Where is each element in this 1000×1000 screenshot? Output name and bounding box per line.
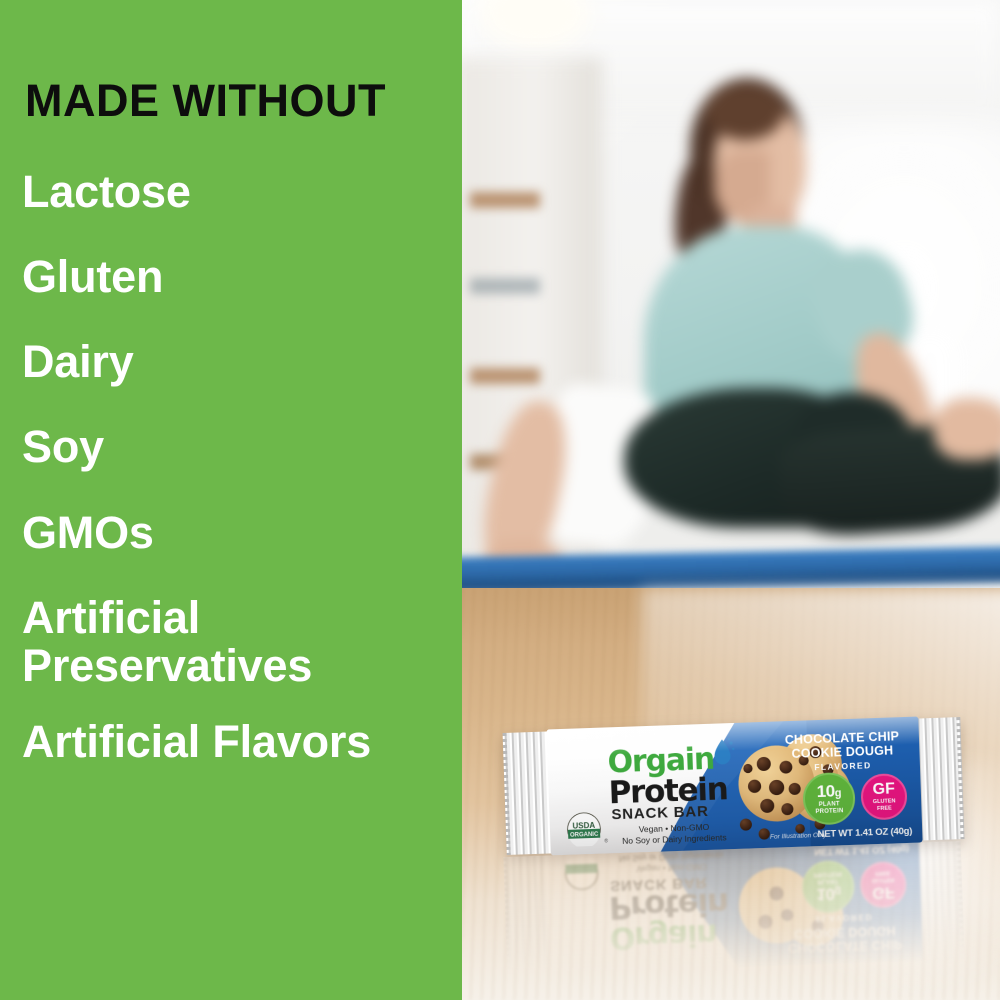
product-subtitle: SNACK BAR <box>611 803 709 823</box>
protein-value: 10 <box>816 781 835 801</box>
list-item: Artificial Preservatives <box>22 594 462 690</box>
protein-caption-line2: PROTEIN <box>815 808 843 816</box>
list-item: Gluten <box>22 253 462 301</box>
usda-organic-seal-icon: USDA ORGANIC <box>563 812 604 847</box>
package-face: Orgain® Protein SNACK BAR Vegan • Non-GM… <box>546 717 922 856</box>
package-graphic: Orgain® Protein SNACK BAR Vegan • Non-GM… <box>502 715 964 857</box>
protein-unit: g <box>834 787 841 799</box>
gluten-free-abbr: GF <box>872 782 895 799</box>
protein-amount: 10g <box>816 782 841 800</box>
list-item: Soy <box>22 423 462 471</box>
usda-registered-mark: ® <box>604 838 608 844</box>
list-item-line2: Preservatives <box>22 642 462 690</box>
product-claims: Vegan • Non-GMO No Soy or Dairy Ingredie… <box>610 821 739 848</box>
page-title: MADE WITHOUT <box>25 78 386 123</box>
list-item: Dairy <box>22 338 462 386</box>
flavor-name: CHOCOLATE CHIP COOKIE DOUGH FLAVORED <box>777 729 908 774</box>
protein-caption: PLANT PROTEIN <box>815 801 844 815</box>
product-marketing-image: MADE WITHOUT Lactose Gluten Dairy Soy GM… <box>0 0 1000 1000</box>
foot <box>934 398 1000 460</box>
made-without-list: Lactose Gluten Dairy Soy GMOs Artificial… <box>22 168 462 803</box>
gluten-free-caption-line1: GLUTEN <box>873 799 896 806</box>
product-package: Orgain® Protein SNACK BAR Vegan • Non-GM… <box>502 715 965 883</box>
gluten-free-caption-line2: FREE <box>873 805 896 812</box>
gluten-free-caption: GLUTEN FREE <box>873 799 896 812</box>
made-without-panel: MADE WITHOUT Lactose Gluten Dairy Soy GM… <box>0 0 462 1000</box>
list-item: Artificial Flavors <box>22 718 462 766</box>
svg-text:ORGANIC: ORGANIC <box>570 832 599 839</box>
list-item: Lactose <box>22 168 462 216</box>
hair-highlight <box>706 84 784 140</box>
list-item-line1: Artificial <box>22 594 462 642</box>
svg-text:USDA: USDA <box>572 821 595 831</box>
list-item: GMOs <box>22 509 462 557</box>
